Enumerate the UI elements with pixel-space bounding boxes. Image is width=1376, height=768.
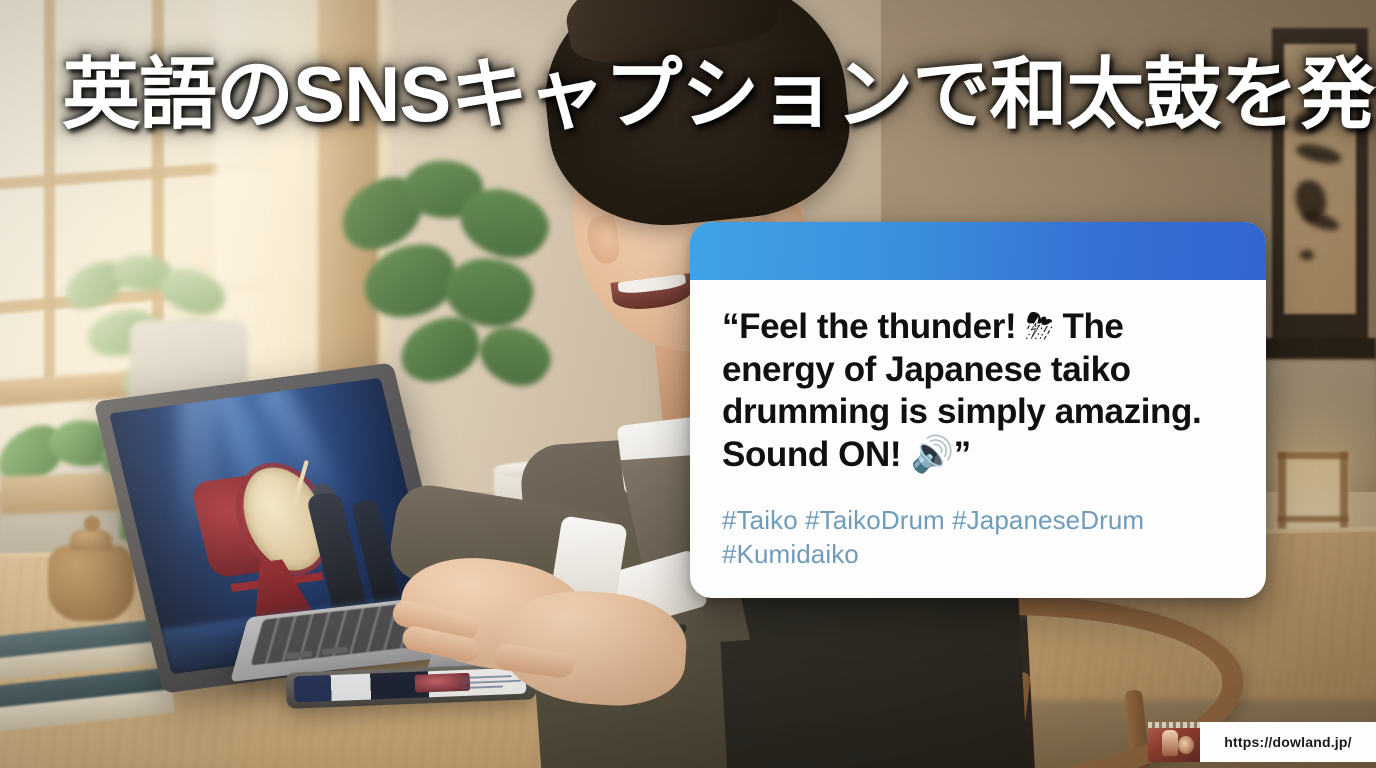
quote-line4-start: Sound ON! bbox=[722, 435, 910, 474]
storm-cloud-icon: ⛈ bbox=[1026, 307, 1054, 347]
jar-knob bbox=[84, 516, 100, 532]
quote-line1-end: The bbox=[1053, 307, 1123, 346]
hashtag-line-2: #Kumidaiko bbox=[722, 539, 859, 569]
card-header-bar bbox=[690, 222, 1266, 280]
card-body: “Feel the thunder! ⛈ The energy of Japan… bbox=[690, 280, 1266, 572]
calligraphy-stroke bbox=[1300, 250, 1314, 260]
url-badge[interactable]: https://dowland.jp/ bbox=[1148, 722, 1376, 762]
window-mullion bbox=[44, 0, 55, 400]
lantern-frame bbox=[1278, 452, 1348, 459]
wall-shelf bbox=[1264, 338, 1376, 360]
caption-quote: “Feel the thunder! ⛈ The energy of Japan… bbox=[722, 306, 1234, 477]
hashtag-line-1: #Taiko #TaikoDrum #JapaneseDrum bbox=[722, 505, 1144, 535]
thumbnail-top-strip bbox=[1148, 722, 1200, 728]
quote-line3: drumming is simply amazing. bbox=[722, 392, 1201, 431]
quote-line4-end: ” bbox=[954, 435, 971, 474]
speaker-icon: 🔊 bbox=[910, 435, 953, 475]
quote-line2: energy of Japanese taiko bbox=[722, 350, 1131, 389]
wooden-jar bbox=[48, 545, 134, 621]
screenshot-root: 英語のSNSキャプションで和太鼓を発信 “Feel the thunder! ⛈… bbox=[0, 0, 1376, 768]
page-title: 英語のSNSキャプションで和太鼓を発信 bbox=[62, 52, 1332, 136]
thumbnail-figure bbox=[1162, 730, 1178, 756]
hashtag-list: #Taiko #TaikoDrum #JapaneseDrum #Kumidai… bbox=[722, 503, 1234, 572]
badge-thumbnail-icon bbox=[1148, 722, 1200, 762]
badge-url-text[interactable]: https://dowland.jp/ bbox=[1200, 722, 1376, 762]
quote-line1-start: “Feel the thunder! bbox=[722, 307, 1026, 346]
thumbnail-drum bbox=[1178, 736, 1194, 754]
lantern-frame bbox=[1278, 516, 1348, 522]
caption-card: “Feel the thunder! ⛈ The energy of Japan… bbox=[690, 222, 1266, 598]
